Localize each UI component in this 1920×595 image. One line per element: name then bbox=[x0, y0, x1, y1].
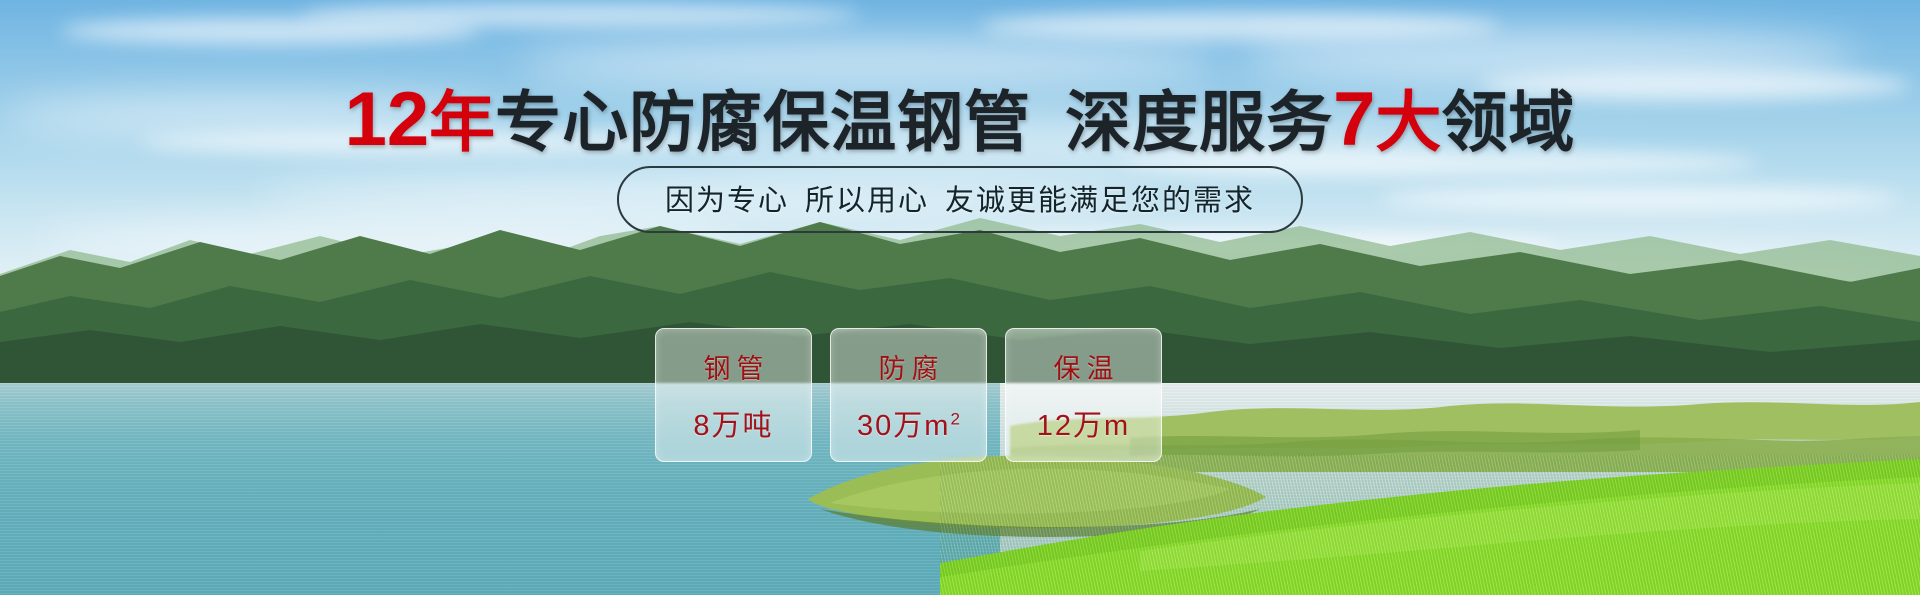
stat-card-steel-pipe: 钢管 8万吨 bbox=[655, 328, 812, 462]
headline-fields-number: 7 bbox=[1333, 77, 1375, 162]
headline-fields-text: 领域 bbox=[1441, 85, 1575, 159]
subtitle-segment-3: 友诚更能满足您的需求 bbox=[945, 185, 1255, 217]
headline-main-text: 专心防腐保温钢管 bbox=[495, 85, 1031, 159]
stat-value-text: 12万m bbox=[1037, 410, 1130, 442]
stat-label: 钢管 bbox=[698, 347, 770, 386]
subtitle-segment-2: 所以用心 bbox=[805, 185, 929, 217]
stat-value: 8万吨 bbox=[693, 402, 773, 444]
stat-value-text: 30万m bbox=[857, 410, 950, 442]
stat-cards: 钢管 8万吨 防腐 30万m2 保温 12万m bbox=[655, 328, 1162, 462]
hero-banner: 12年专心防腐保温钢管深度服务7大领域 因为专心所以用心友诚更能满足您的需求 钢… bbox=[0, 0, 1920, 595]
stat-label: 保温 bbox=[1048, 347, 1120, 386]
headline-fields-unit: 大 bbox=[1375, 85, 1441, 159]
subtitle-pill: 因为专心所以用心友诚更能满足您的需求 bbox=[617, 166, 1303, 233]
stat-card-insulation: 保温 12万m bbox=[1005, 328, 1162, 462]
stat-value: 30万m2 bbox=[857, 402, 960, 444]
foreground-grass bbox=[940, 455, 1920, 595]
stat-card-anticorrosion: 防腐 30万m2 bbox=[830, 328, 987, 462]
headline: 12年专心防腐保温钢管深度服务7大领域 bbox=[0, 82, 1920, 158]
headline-years-number: 12 bbox=[345, 77, 430, 162]
stat-label: 防腐 bbox=[873, 347, 945, 386]
headline-years-unit: 年 bbox=[429, 85, 495, 159]
stat-value: 12万m bbox=[1037, 402, 1130, 444]
subtitle-segment-1: 因为专心 bbox=[665, 185, 789, 217]
grass-texture bbox=[940, 455, 1920, 595]
headline-service-text: 深度服务 bbox=[1065, 85, 1333, 159]
stat-value-text: 8万吨 bbox=[693, 410, 773, 442]
stat-value-superscript: 2 bbox=[950, 409, 959, 428]
